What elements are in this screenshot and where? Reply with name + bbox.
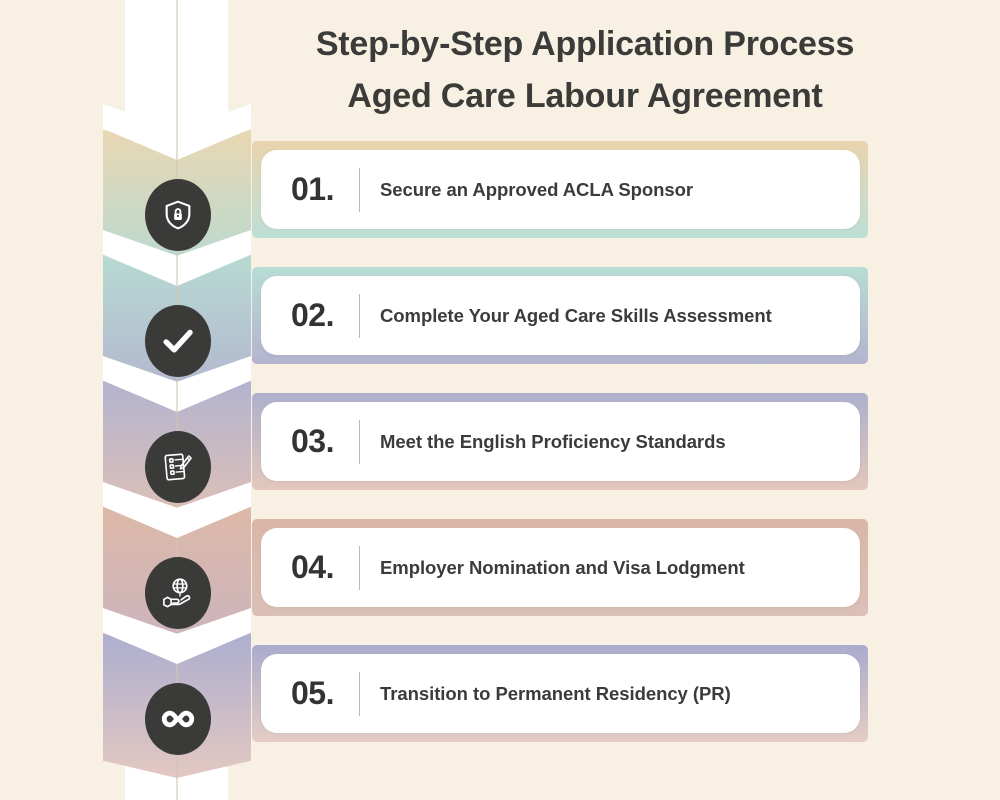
step-icon-badge-1[interactable]	[145, 179, 211, 251]
infographic-canvas: Step-by-Step Application Process Aged Ca…	[0, 0, 1000, 800]
step-card-5[interactable]: 05. Transition to Permanent Residency (P…	[252, 645, 868, 742]
step-card-4[interactable]: 04. Employer Nomination and Visa Lodgmen…	[252, 519, 868, 616]
clipboard-pen-icon	[161, 450, 195, 484]
step-number-2: 02.	[291, 297, 353, 334]
step-label-2: Complete Your Aged Care Skills Assessmen…	[380, 304, 772, 327]
step-divider-1	[359, 168, 360, 212]
step-card-inner-4: 04. Employer Nomination and Visa Lodgmen…	[261, 528, 860, 607]
step-card-1[interactable]: 01. Secure an Approved ACLA Sponsor	[252, 141, 868, 238]
step-card-inner-2: 02. Complete Your Aged Care Skills Asses…	[261, 276, 860, 355]
step-card-2[interactable]: 02. Complete Your Aged Care Skills Asses…	[252, 267, 868, 364]
infinity-icon	[159, 700, 197, 738]
step-card-inner-5: 05. Transition to Permanent Residency (P…	[261, 654, 860, 733]
step-label-3: Meet the English Proficiency Standards	[380, 430, 726, 453]
step-icon-badge-5[interactable]	[145, 683, 211, 755]
step-divider-3	[359, 420, 360, 464]
step-card-inner-3: 03. Meet the English Proficiency Standar…	[261, 402, 860, 481]
step-label-1: Secure an Approved ACLA Sponsor	[380, 178, 693, 201]
step-number-1: 01.	[291, 171, 353, 208]
title-line-2: Aged Care Labour Agreement	[255, 70, 915, 122]
step-divider-2	[359, 294, 360, 338]
shield-lock-icon	[161, 198, 195, 232]
hand-globe-icon	[160, 575, 196, 611]
step-number-4: 04.	[291, 549, 353, 586]
step-divider-4	[359, 546, 360, 590]
step-divider-5	[359, 672, 360, 716]
step-number-3: 03.	[291, 423, 353, 460]
chevron-centre-line	[176, 0, 178, 800]
title-line-1: Step-by-Step Application Process	[255, 18, 915, 70]
step-icon-badge-2[interactable]	[145, 305, 211, 377]
step-number-5: 05.	[291, 675, 353, 712]
step-card-inner-1: 01. Secure an Approved ACLA Sponsor	[261, 150, 860, 229]
step-card-3[interactable]: 03. Meet the English Proficiency Standar…	[252, 393, 868, 490]
chevron-column	[103, 0, 251, 800]
step-label-4: Employer Nomination and Visa Lodgment	[380, 556, 745, 579]
step-label-5: Transition to Permanent Residency (PR)	[380, 682, 731, 705]
step-icon-badge-3[interactable]	[145, 431, 211, 503]
step-icon-badge-4[interactable]	[145, 557, 211, 629]
page-title: Step-by-Step Application Process Aged Ca…	[255, 18, 915, 122]
checkmark-icon	[159, 322, 197, 360]
